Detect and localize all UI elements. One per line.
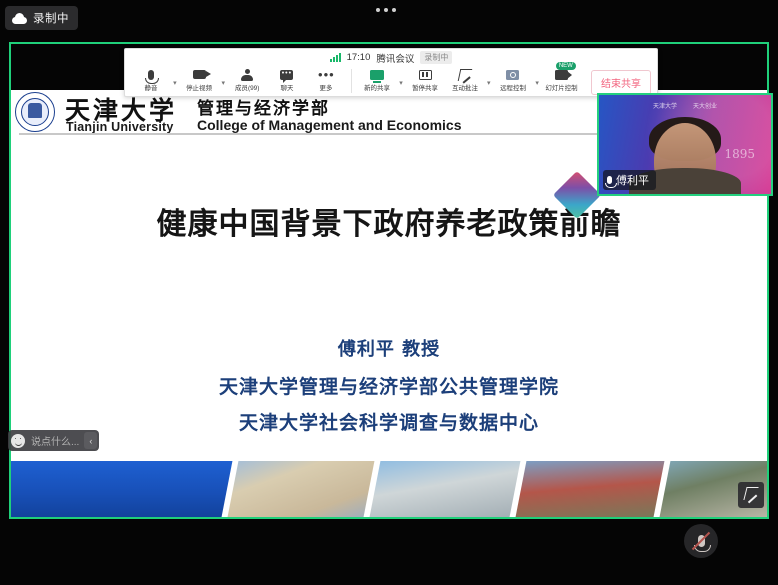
annotation-icon xyxy=(744,487,757,500)
annotation-icon xyxy=(459,69,471,81)
slide-control-button[interactable]: NEW 幻灯片控制 xyxy=(542,66,581,93)
annotation-button[interactable]: 互动批注 xyxy=(445,66,484,93)
share-options-caret-icon[interactable]: ▾ xyxy=(397,79,406,87)
video-backdrop-logos: 天津大学 天大创业 xyxy=(653,101,717,110)
toolbar-recording-label: 录制中 xyxy=(420,51,452,64)
participants-button[interactable]: 成员(99) xyxy=(228,66,267,93)
photo-panel xyxy=(368,461,521,517)
recording-badge: 录制中 xyxy=(5,6,78,30)
microphone-icon xyxy=(607,176,612,184)
stop-video-button-label: 停止视频 xyxy=(186,83,212,92)
participant-video-tile[interactable]: 天津大学 天大创业 1895 傅利平 xyxy=(597,93,773,196)
backdrop-number: 1895 xyxy=(724,147,755,161)
end-share-button[interactable]: 结束共享 xyxy=(591,70,651,95)
chevron-left-icon[interactable]: ‹ xyxy=(84,432,97,449)
meeting-toolbar: 17:10 腾讯会议 录制中 静音 ▾ 停止视频 ▾ 成员(99) ••• 聊天 xyxy=(124,48,658,97)
pause-share-icon xyxy=(419,70,432,80)
new-share-button-label: 新的共享 xyxy=(364,83,390,92)
remote-control-icon xyxy=(506,70,519,80)
photo-panel xyxy=(11,461,234,517)
more-button[interactable]: ••• 更多 xyxy=(307,66,346,93)
new-share-button[interactable]: 新的共享 xyxy=(357,66,396,93)
photo-panel xyxy=(514,461,665,517)
toolbar-app-name: 腾讯会议 xyxy=(376,51,414,65)
toolbar-time: 17:10 xyxy=(347,52,371,63)
remote-control-button[interactable]: 远程控制 xyxy=(493,66,532,93)
participants-icon xyxy=(241,69,253,80)
backdrop-text-right: 天大创业 xyxy=(693,101,717,110)
slide-control-button-label: 幻灯片控制 xyxy=(545,83,577,92)
pause-share-button[interactable]: 暂停共享 xyxy=(405,66,444,93)
toolbar-separator xyxy=(351,69,352,93)
cloud-icon xyxy=(12,13,27,24)
mute-options-caret-icon[interactable]: ▾ xyxy=(170,79,179,87)
annotation-button-label: 互动批注 xyxy=(452,83,478,92)
department-name-en: College of Management and Economics xyxy=(197,117,462,133)
photo-panel xyxy=(226,461,375,517)
new-badge: NEW xyxy=(556,62,576,70)
slide-footer-photo-band xyxy=(11,461,767,517)
presenter-name: 傅利平 教授 xyxy=(11,335,767,361)
participants-button-label: 成员(99) xyxy=(235,83,259,92)
video-options-caret-icon[interactable]: ▾ xyxy=(219,79,228,87)
backdrop-text-left: 天津大学 xyxy=(653,101,677,110)
slide-title: 健康中国背景下政府养老政策前瞻 xyxy=(11,199,767,243)
chat-input-placeholder[interactable]: 说点什么... xyxy=(31,433,79,448)
chat-button-label: 聊天 xyxy=(280,83,293,92)
remote-control-button-label: 远程控制 xyxy=(500,83,526,92)
department-name-cn: 管理与经济学部 xyxy=(197,94,330,119)
more-dots-icon: ••• xyxy=(318,70,335,80)
participant-name-label: 傅利平 xyxy=(603,170,656,190)
participant-name-text: 傅利平 xyxy=(616,172,649,188)
tianjin-university-seal-icon xyxy=(15,92,55,132)
stop-video-button[interactable]: 停止视频 xyxy=(179,66,218,93)
chat-button[interactable]: ••• 聊天 xyxy=(267,66,306,93)
annotation-options-caret-icon[interactable]: ▾ xyxy=(484,79,493,87)
mute-button[interactable]: 静音 xyxy=(131,66,170,93)
chat-input-bar[interactable]: 说点什么... ‹ xyxy=(8,430,99,451)
toolbar-status-row: 17:10 腾讯会议 录制中 xyxy=(125,49,657,66)
recording-badge-label: 录制中 xyxy=(33,10,69,26)
microphone-icon xyxy=(148,70,154,80)
university-name-en: Tianjin University xyxy=(66,120,174,134)
more-button-label: 更多 xyxy=(320,83,333,92)
toolbar-button-row: 静音 ▾ 停止视频 ▾ 成员(99) ••• 聊天 ••• 更多 xyxy=(125,66,657,97)
mute-floating-button[interactable] xyxy=(684,524,718,558)
pause-share-button-label: 暂停共享 xyxy=(412,83,438,92)
annotate-floating-button[interactable] xyxy=(738,482,764,508)
presenter-affiliation-2: 天津大学社会科学调查与数据中心 xyxy=(11,408,767,435)
mute-button-label: 静音 xyxy=(144,83,157,92)
signal-strength-icon xyxy=(330,53,341,62)
emoji-icon[interactable] xyxy=(11,434,25,448)
screen-share-icon xyxy=(370,70,384,80)
meeting-screen: 录制中 天津大学 Tianjin University 管理与经济学部 Coll… xyxy=(0,0,778,585)
slide-control-icon xyxy=(555,70,568,80)
drag-dots-icon[interactable] xyxy=(376,8,396,12)
chat-icon: ••• xyxy=(280,70,293,80)
camera-icon xyxy=(193,70,206,79)
presenter-affiliation-1: 天津大学管理与经济学部公共管理学院 xyxy=(11,372,767,399)
remote-options-caret-icon[interactable]: ▾ xyxy=(533,79,542,87)
